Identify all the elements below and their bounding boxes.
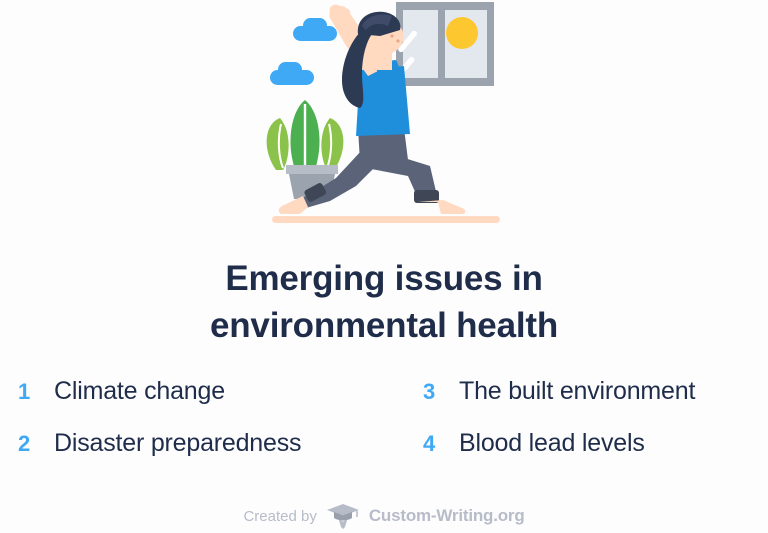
list-item: 3 The built environment	[423, 377, 768, 429]
yoga-mat	[272, 216, 500, 223]
list-item-number: 2	[18, 431, 54, 457]
list-item-number: 1	[18, 379, 54, 405]
graduation-cap-pen-nib-icon	[326, 503, 360, 529]
title-line-2: environmental health	[0, 302, 768, 349]
cloud-icon-lower	[270, 62, 314, 85]
infographic-poster: Emerging issues in environmental health …	[0, 0, 768, 533]
list-item: 4 Blood lead levels	[423, 429, 768, 481]
page-title: Emerging issues in environmental health	[0, 255, 768, 349]
footer-attribution: Created by Custom-Writing.org	[0, 503, 768, 529]
footer-brand-label: Custom-Writing.org	[369, 506, 525, 526]
window-icon	[396, 2, 494, 86]
issues-column-right: 3 The built environment 4 Blood lead lev…	[384, 377, 768, 481]
yoga-illustration	[0, 0, 768, 240]
list-item-label: Disaster preparedness	[54, 429, 301, 458]
issues-list: 1 Climate change 2 Disaster preparedness…	[0, 377, 768, 481]
list-item-label: Blood lead levels	[459, 429, 645, 458]
list-item: 2 Disaster preparedness	[18, 429, 384, 481]
list-item-number: 4	[423, 431, 459, 457]
list-item-label: The built environment	[459, 377, 695, 406]
cloud-icon-upper	[293, 18, 337, 41]
list-item: 1 Climate change	[18, 377, 384, 429]
footer-created-by-label: Created by	[243, 508, 316, 525]
list-item-label: Climate change	[54, 377, 225, 406]
list-item-number: 3	[423, 379, 459, 405]
issues-column-left: 1 Climate change 2 Disaster preparedness	[0, 377, 384, 481]
title-line-1: Emerging issues in	[0, 255, 768, 302]
